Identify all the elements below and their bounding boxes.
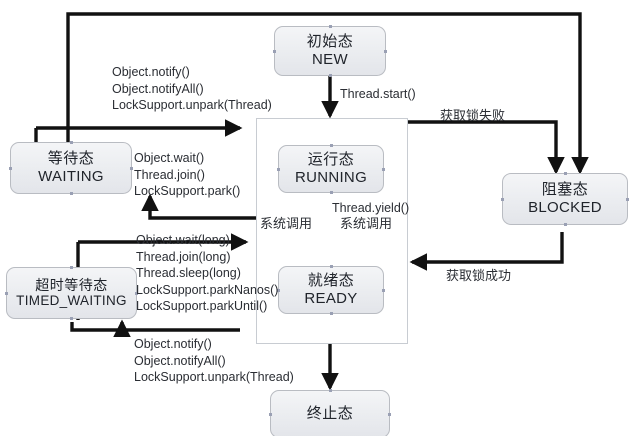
state-node-ready[interactable]: 就绪态 READY xyxy=(278,266,384,314)
label-line-3: Thread.sleep(long) xyxy=(136,265,278,282)
node-handle-top xyxy=(330,265,333,268)
label-line-1: Object.wait() xyxy=(134,150,240,167)
label-notify-to-runnable: Object.notify() Object.notifyAll() LockS… xyxy=(112,64,272,114)
node-handle-top xyxy=(70,266,73,269)
label-line-3: LockSupport.park() xyxy=(134,183,240,200)
state-node-timed-waiting[interactable]: 超时等待态 TIMED_WAITING xyxy=(6,267,137,319)
label-thread-yield: Thread.yield() xyxy=(332,200,409,217)
state-node-running-en: RUNNING xyxy=(295,169,367,187)
node-handle-top xyxy=(329,25,332,28)
state-node-ready-en: READY xyxy=(304,290,357,308)
thread-state-diagram: 初始态 NEW 运行态 RUNNING 就绪态 READY 等待态 WAITIN… xyxy=(0,0,640,436)
node-handle-top xyxy=(329,389,332,392)
label-line-2: Thread.join(long) xyxy=(136,249,278,266)
label-line-2: Thread.join() xyxy=(134,167,240,184)
state-node-terminated-cn: 终止态 xyxy=(307,405,354,423)
node-handle-bottom xyxy=(330,312,333,315)
edge-blocked-to-runnable xyxy=(412,232,562,262)
label-line-1: Object.wait(long) xyxy=(136,232,278,249)
node-handle-bottom xyxy=(70,317,73,320)
label-runnable-to-timed-waiting: Object.wait(long) Thread.join(long) Thre… xyxy=(136,232,278,315)
label-line-5: LockSupport.parkUntil() xyxy=(136,298,278,315)
state-node-blocked-en: BLOCKED xyxy=(528,199,602,217)
node-handle-top xyxy=(564,172,567,175)
state-node-terminated[interactable]: 终止态 xyxy=(270,390,390,436)
state-node-running[interactable]: 运行态 RUNNING xyxy=(278,145,384,193)
label-thread-start: Thread.start() xyxy=(340,86,416,103)
label-runnable-to-waiting: Object.wait() Thread.join() LockSupport.… xyxy=(134,150,240,200)
label-line-1: Object.notify() xyxy=(134,336,294,353)
state-node-waiting-cn: 等待态 xyxy=(48,150,95,168)
state-node-waiting[interactable]: 等待态 WAITING xyxy=(10,142,132,194)
state-node-waiting-en: WAITING xyxy=(38,168,104,186)
edge-runnable-to-timed xyxy=(72,322,240,330)
state-node-running-cn: 运行态 xyxy=(308,151,355,169)
node-handle-bottom xyxy=(330,191,333,194)
state-node-new-en: NEW xyxy=(312,51,348,69)
state-node-timed-waiting-cn: 超时等待态 xyxy=(35,277,108,294)
label-lock-success: 获取锁成功 xyxy=(446,268,511,285)
label-line-3: LockSupport.unpark(Thread) xyxy=(134,369,294,386)
state-node-new-cn: 初始态 xyxy=(307,33,354,51)
state-node-blocked[interactable]: 阻塞态 BLOCKED xyxy=(502,173,628,225)
label-notify-to-timed-waiting: Object.notify() Object.notifyAll() LockS… xyxy=(134,336,294,386)
label-syscall-right: 系统调用 xyxy=(340,216,392,233)
node-handle-top xyxy=(330,144,333,147)
state-node-timed-waiting-en: TIMED_WAITING xyxy=(16,293,127,309)
state-node-blocked-cn: 阻塞态 xyxy=(542,181,589,199)
node-handle-bottom xyxy=(564,223,567,226)
label-syscall-left: 系统调用 xyxy=(260,216,312,233)
node-handle-top xyxy=(70,141,73,144)
label-line-3: LockSupport.unpark(Thread) xyxy=(112,97,272,114)
label-line-1: Object.notify() xyxy=(112,64,272,81)
node-handle-bottom xyxy=(70,192,73,195)
label-lock-failed: 获取锁失败 xyxy=(440,108,505,125)
label-line-4: LockSupport.parkNanos() xyxy=(136,282,278,299)
state-node-ready-cn: 就绪态 xyxy=(308,272,355,290)
label-line-2: Object.notifyAll() xyxy=(112,81,272,98)
state-node-new[interactable]: 初始态 NEW xyxy=(274,26,386,76)
node-handle-bottom xyxy=(329,74,332,77)
label-line-2: Object.notifyAll() xyxy=(134,353,294,370)
edge-runnable-to-blocked xyxy=(408,122,556,172)
